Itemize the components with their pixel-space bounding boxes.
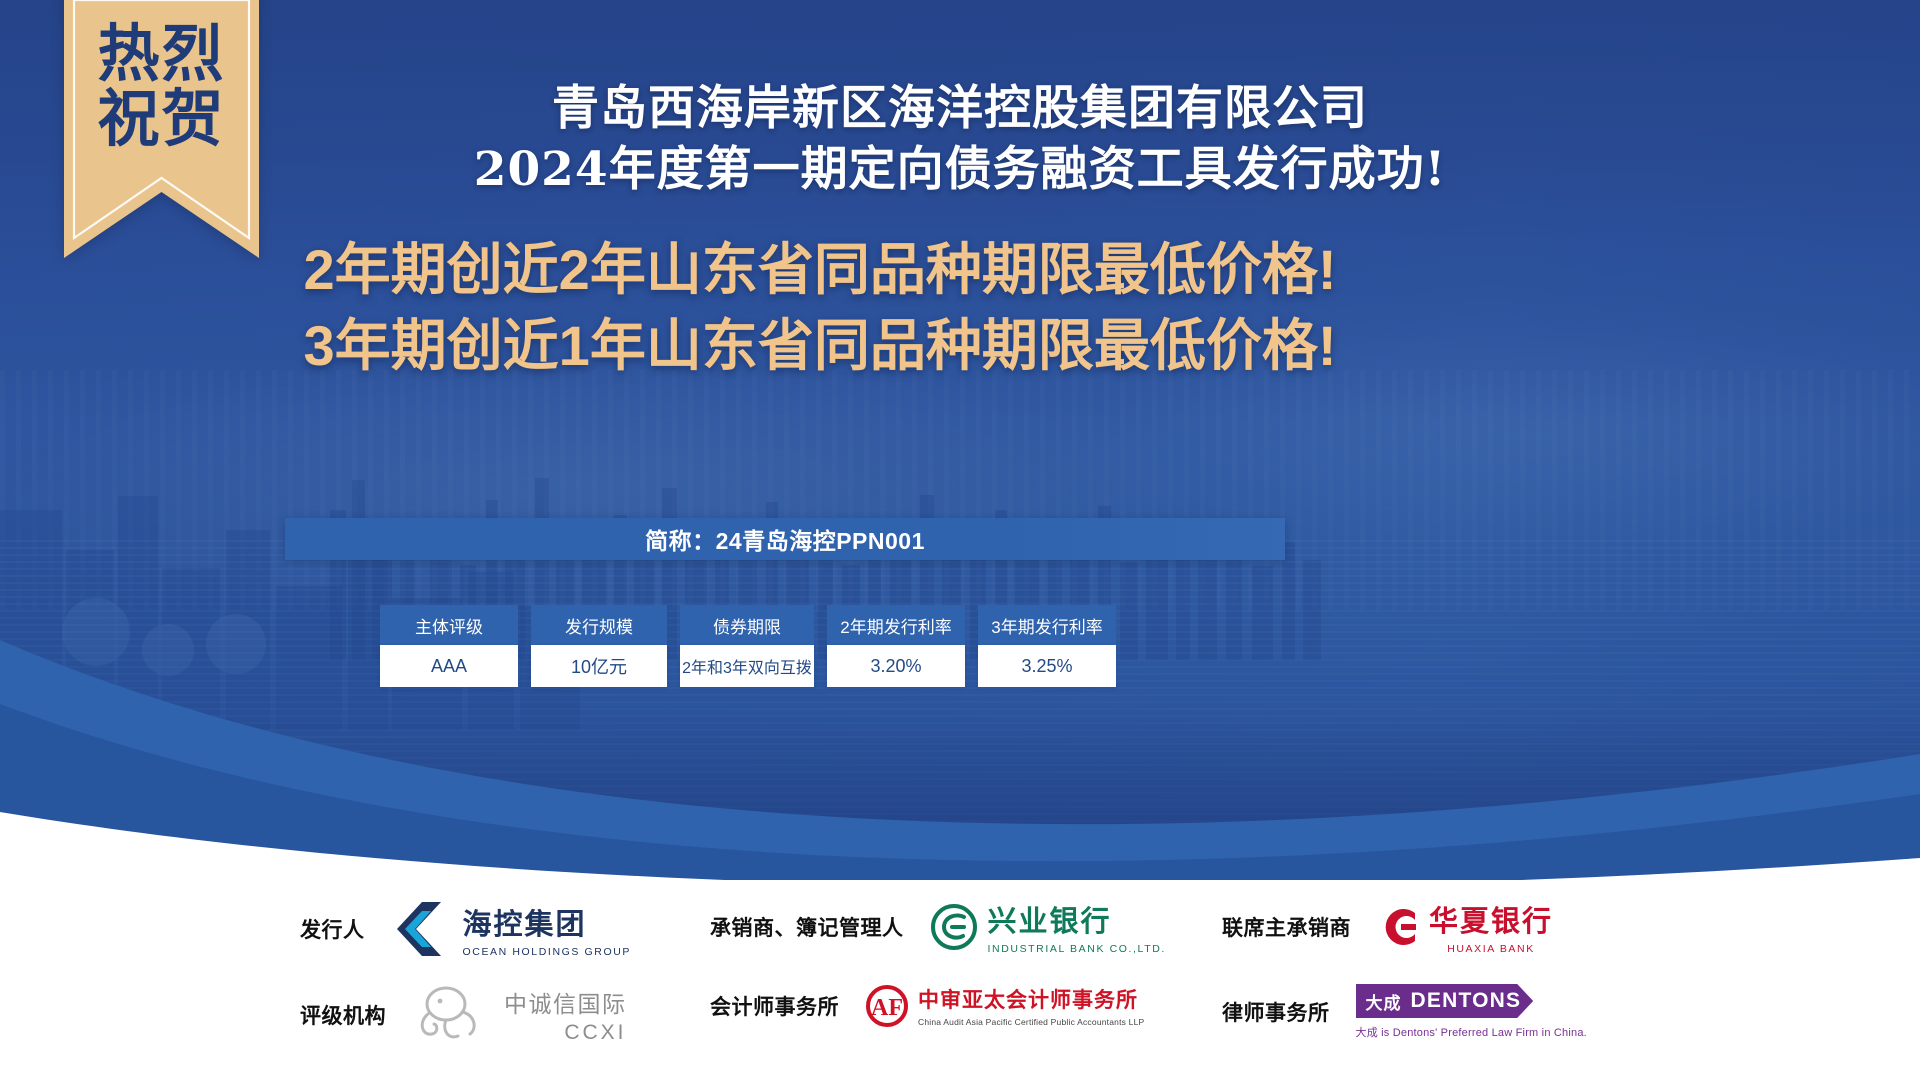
partner-underwriter: 承销商、簿记管理人 兴业银行 INDUSTRIAL BANK CO.,LTD. [710, 898, 1166, 955]
slogan-block: 2年期创近2年山东省同品种期限最低价格! 3年期创近1年山东省同品种期限最低价格… [230, 232, 1410, 384]
china-audit-name-en: China Audit Asia Pacific Certified Publi… [918, 1017, 1144, 1027]
partner-joint-underwriter: 联席主承销商 华夏银行 HUAXIA BANK [1222, 898, 1553, 955]
bond-short-name-text: 简称：24青岛海控PPN001 [645, 522, 925, 556]
partner-issuer: 发行人 海控集团 OCEAN HOLDINGS GROUP [300, 898, 631, 960]
huaxia-bank-name-cn: 华夏银行 [1429, 898, 1553, 940]
slogan-line-1: 2年期创近2年山东省同品种期限最低价格! [230, 232, 1410, 308]
industrial-bank-logo: 兴业银行 INDUSTRIAL BANK CO.,LTD. [930, 898, 1166, 955]
industrial-bank-mark-icon [930, 903, 978, 951]
card-rate-2y-label: 2年期发行利率 [827, 605, 965, 645]
partner-issuer-label: 发行人 [300, 914, 365, 944]
ccxi-elephant-icon [412, 984, 498, 1046]
ccxi-logo: 中诚信国际 CCXI [412, 984, 627, 1046]
card-bond-term: 债券期限 2年和3年双向互拨 [680, 605, 814, 687]
page-title: 青岛西海岸新区海洋控股集团有限公司 2024年度第一期定向债务融资工具发行成功! [260, 78, 1660, 200]
ccxi-name-en: CCXI [504, 1021, 627, 1045]
ribbon-line-2: 祝贺 [97, 87, 225, 150]
industrial-bank-name-cn: 兴业银行 [988, 898, 1166, 940]
ocean-holdings-name-en: OCEAN HOLDINGS GROUP [463, 946, 632, 958]
title-line-2: 2024年度第一期定向债务融资工具发行成功! [260, 139, 1660, 200]
ccxi-name-cn: 中诚信国际 [504, 985, 627, 1019]
ocean-holdings-mark-icon [391, 898, 453, 960]
card-rate-3y-value: 3.25% [978, 645, 1116, 687]
ocean-holdings-name-cn: 海控集团 [463, 901, 632, 943]
partners-row-2: 评级机构 中诚信国际 CCXI [0, 984, 1920, 1056]
card-issuer-rating-value: AAA [380, 645, 518, 687]
parameter-cards: 主体评级 AAA 发行规模 10亿元 债券期限 2年和3年双向互拨 2年期发行利… [380, 605, 1200, 700]
title-line-1: 青岛西海岸新区海洋控股集团有限公司 [260, 78, 1660, 139]
dentons-name-cn: 大成 [1366, 989, 1402, 1014]
partner-rating-agency: 评级机构 中诚信国际 CCXI [300, 984, 627, 1046]
partner-law-firm: 律师事务所 大成 DENTONS 大成 is Dentons' Preferre… [1222, 984, 1587, 1040]
bond-short-name-bar: 简称：24青岛海控PPN001 [285, 518, 1285, 560]
card-rate-3y-label: 3年期发行利率 [978, 605, 1116, 645]
partner-rating-agency-label: 评级机构 [300, 1000, 386, 1030]
china-audit-logo: AF 中审亚太会计师事务所 China Audit Asia Pacific C… [865, 984, 1144, 1027]
card-bond-term-value: 2年和3年双向互拨 [680, 645, 814, 687]
card-issue-size-label: 发行规模 [531, 605, 667, 645]
partners-row-1: 发行人 海控集团 OCEAN HOLDINGS GROUP 承销商、簿记管理人 [0, 898, 1920, 970]
partner-accounting-firm-label: 会计师事务所 [710, 991, 839, 1021]
dentons-tagline: 大成 is Dentons' Preferred Law Firm in Chi… [1356, 1024, 1587, 1040]
card-rate-3y: 3年期发行利率 3.25% [978, 605, 1116, 687]
industrial-bank-name-en: INDUSTRIAL BANK CO.,LTD. [988, 943, 1166, 955]
card-rate-2y-value: 3.20% [827, 645, 965, 687]
card-issuer-rating-label: 主体评级 [380, 605, 518, 645]
card-issuer-rating: 主体评级 AAA [380, 605, 518, 687]
china-audit-af-letters: AF [871, 995, 903, 1021]
dentons-name-en: DENTONS [1411, 989, 1522, 1013]
huaxia-bank-logo: 华夏银行 HUAXIA BANK [1377, 898, 1553, 955]
poster-root: 热烈 祝贺 青岛西海岸新区海洋控股集团有限公司 2024年度第一期定向债务融资工… [0, 0, 1920, 1080]
china-audit-af-mark-icon: AF [865, 985, 911, 1027]
card-issue-size: 发行规模 10亿元 [531, 605, 667, 687]
ocean-holdings-logo: 海控集团 OCEAN HOLDINGS GROUP [391, 898, 632, 960]
partner-joint-underwriter-label: 联席主承销商 [1222, 912, 1351, 942]
card-rate-2y: 2年期发行利率 3.20% [827, 605, 965, 687]
card-issue-size-value: 10亿元 [531, 645, 667, 687]
ribbon-line-1: 热烈 [97, 22, 225, 85]
huaxia-bank-name-en: HUAXIA BANK [1429, 943, 1553, 955]
slogan-line-2: 3年期创近1年山东省同品种期限最低价格! [230, 308, 1410, 384]
card-bond-term-label: 债券期限 [680, 605, 814, 645]
partner-accounting-firm: 会计师事务所 AF 中审亚太会计师事务所 China Audit Asia Pa… [710, 984, 1144, 1027]
huaxia-bank-mark-icon [1377, 905, 1421, 949]
partners-section: 发行人 海控集团 OCEAN HOLDINGS GROUP 承销商、簿记管理人 [0, 880, 1920, 1080]
china-audit-name-cn: 中审亚太会计师事务所 [918, 984, 1144, 1014]
dentons-logo: 大成 DENTONS 大成 is Dentons' Preferred Law … [1356, 984, 1587, 1040]
partner-law-firm-label: 律师事务所 [1222, 997, 1330, 1027]
ribbon-text: 热烈 祝贺 [64, 10, 259, 240]
partner-underwriter-label: 承销商、簿记管理人 [710, 912, 904, 942]
